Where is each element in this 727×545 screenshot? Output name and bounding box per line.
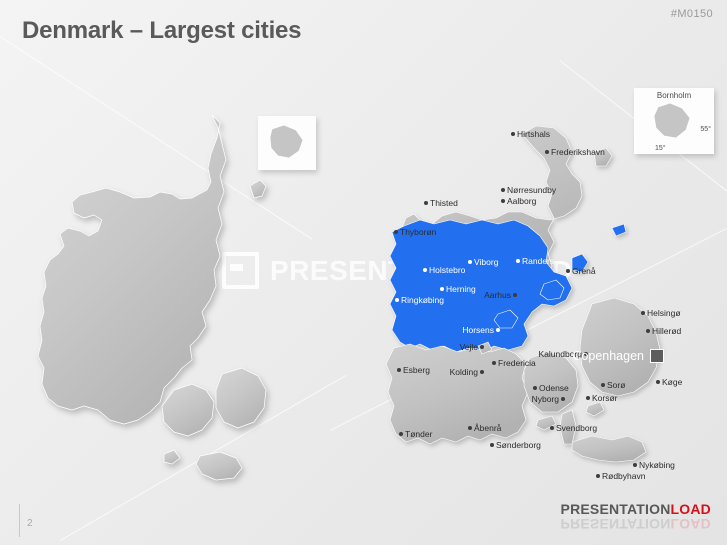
city-marker[interactable]: Viborg [468, 258, 500, 267]
city-label: Svendborg [554, 424, 599, 433]
page-number: 2 [27, 518, 33, 529]
city-marker[interactable]: Thyborøn [394, 228, 438, 237]
brand-part-1: PRESENTATION [561, 501, 671, 517]
city-marker[interactable]: Svendborg [550, 424, 599, 433]
city-label: Åbenrå [472, 424, 503, 433]
city-label: Esberg [401, 366, 432, 375]
city-marker[interactable]: Nykøbing [633, 461, 677, 470]
city-marker[interactable]: Sønderborg [490, 441, 543, 450]
city-marker[interactable]: Helsingø [641, 309, 683, 318]
city-marker[interactable]: Nyborg [530, 395, 565, 404]
city-label: Kolding [448, 368, 480, 377]
footer-divider [19, 504, 20, 537]
brand-reflection-part-1: PRESENTATION [561, 516, 671, 532]
city-label: Ringkøbing [399, 296, 446, 305]
city-label: Sorø [605, 381, 627, 390]
city-label: Holstebro [427, 266, 467, 275]
city-marker[interactable]: Sorø [601, 381, 627, 390]
city-marker[interactable]: Holstebro [423, 266, 467, 275]
city-dot-icon [496, 328, 500, 332]
capital-marker-copenhagen[interactable]: Copenhagen [570, 349, 664, 363]
city-label: Sønderborg [494, 441, 543, 450]
city-label: Helsingø [645, 309, 683, 318]
city-label: Odense [537, 384, 571, 393]
city-marker[interactable]: Odense [533, 384, 571, 393]
city-label: Nyborg [530, 395, 561, 404]
city-label: Køge [660, 378, 684, 387]
brand-reflection: PRESENTATIONLOAD [561, 517, 711, 531]
city-marker[interactable]: Åbenrå [468, 424, 503, 433]
city-label: Korsør [590, 394, 620, 403]
city-marker[interactable]: Fredericia [492, 359, 538, 368]
city-label: Aarhus [482, 291, 513, 300]
city-label: Tønder [403, 430, 434, 439]
city-label: Grenå [570, 267, 598, 276]
city-marker[interactable]: Nørresundby [501, 186, 558, 195]
city-marker[interactable]: Aarhus [482, 291, 517, 300]
city-label: Rødbyhavn [600, 472, 647, 481]
city-marker[interactable]: Esberg [397, 366, 432, 375]
city-label: Vejle [458, 343, 480, 352]
city-marker[interactable]: Aalborg [501, 197, 538, 206]
city-marker[interactable]: Randers [516, 257, 556, 266]
city-label: Herning [444, 285, 478, 294]
city-label: Thyborøn [398, 228, 438, 237]
city-marker[interactable]: Vejle [458, 343, 484, 352]
city-label: Aalborg [505, 197, 538, 206]
city-marker[interactable]: Horsens [460, 326, 500, 335]
city-label: Nørresundby [505, 186, 558, 195]
city-dot-icon [480, 370, 484, 374]
city-marker[interactable]: Herning [440, 285, 478, 294]
city-marker[interactable]: Frederikshavn [545, 148, 607, 157]
brand-reflection-part-2: LOAD [671, 516, 711, 532]
city-marker[interactable]: Rødbyhavn [596, 472, 647, 481]
city-marker[interactable]: Køge [656, 378, 684, 387]
city-marker[interactable]: Korsør [586, 394, 620, 403]
city-markers: HirtshalsFrederikshavnNørresundbyAalborg… [0, 0, 727, 545]
city-label: Frederikshavn [549, 148, 607, 157]
city-marker[interactable]: Tønder [399, 430, 434, 439]
capital-label: Copenhagen [570, 350, 650, 363]
city-marker[interactable]: Hillerød [646, 327, 683, 336]
city-marker[interactable]: Kolding [448, 368, 484, 377]
slide-canvas: Denmark – Largest cities #M0150 [0, 0, 727, 545]
city-label: Hillerød [650, 327, 683, 336]
capital-square-icon [650, 349, 664, 363]
city-marker[interactable]: Grenå [566, 267, 598, 276]
city-label: Horsens [460, 326, 496, 335]
city-label: Nykøbing [637, 461, 677, 470]
city-label: Hirtshals [515, 130, 552, 139]
city-dot-icon [561, 397, 565, 401]
city-marker[interactable]: Hirtshals [511, 130, 552, 139]
brand-logo[interactable]: PRESENTATIONLOAD PRESENTATIONLOAD [561, 502, 711, 531]
city-label: Thisted [428, 199, 460, 208]
city-label: Fredericia [496, 359, 538, 368]
brand-part-2: LOAD [671, 501, 711, 517]
city-dot-icon [480, 345, 484, 349]
city-marker[interactable]: Ringkøbing [395, 296, 446, 305]
city-marker[interactable]: Thisted [424, 199, 460, 208]
city-label: Randers [520, 257, 556, 266]
city-label: Viborg [472, 258, 500, 267]
city-dot-icon [513, 293, 517, 297]
